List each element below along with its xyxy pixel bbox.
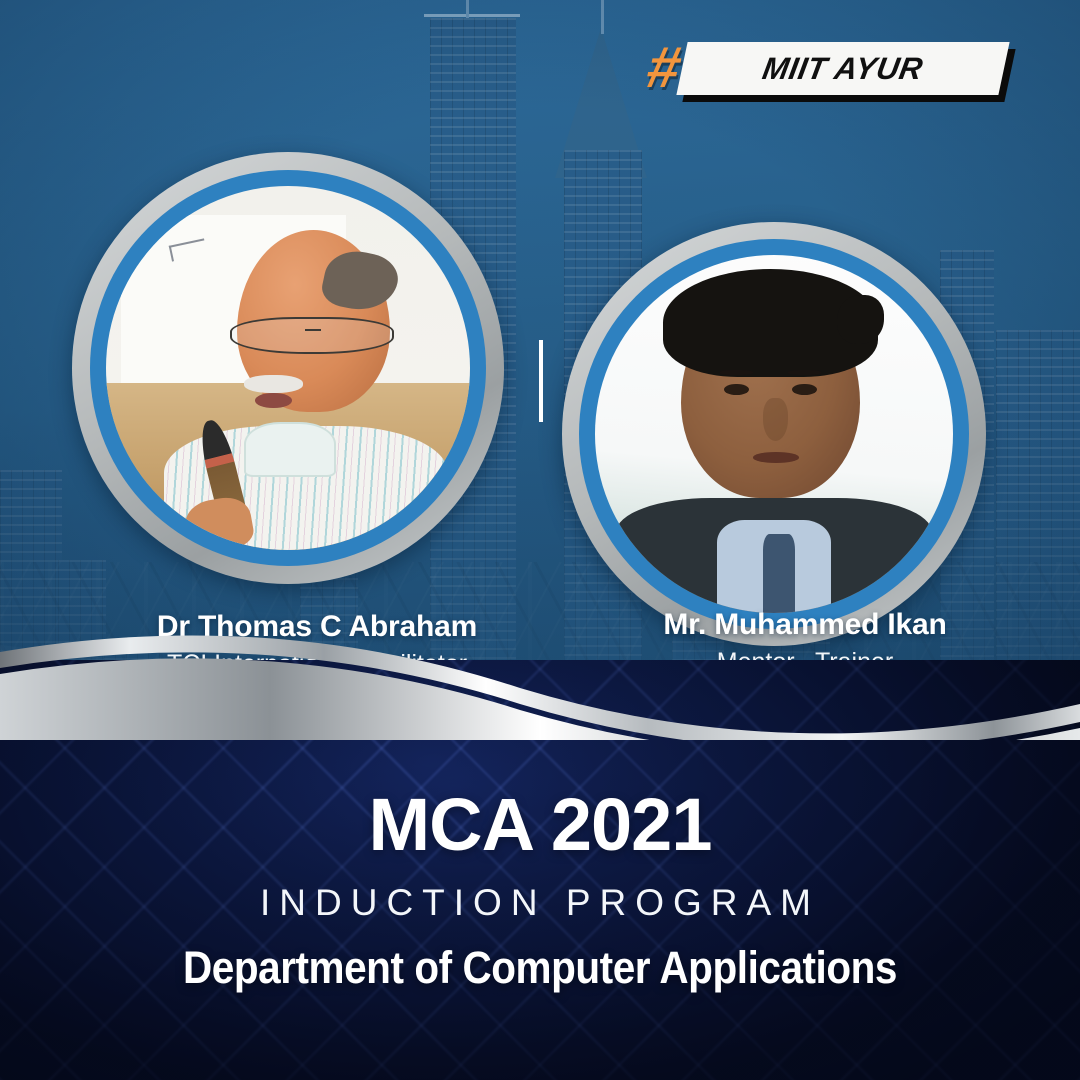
department-name: Department of Computer Applications	[54, 945, 1026, 990]
speaker-right-hair	[663, 269, 878, 376]
speaker-right-brow-left	[720, 370, 752, 376]
speaker-right-brow-right	[788, 370, 820, 376]
event-title: MCA 2021	[0, 788, 1080, 862]
speaker-right-mouth	[753, 452, 800, 463]
badge-plate-wrapper: MIIT AYUR	[682, 42, 1004, 95]
event-title-block: MCA 2021 INDUCTION PROGRAM Department of…	[0, 788, 1080, 990]
badge-label: MIIT AYUR	[760, 50, 926, 86]
badge-plate: MIIT AYUR	[677, 42, 1010, 95]
speaker-left-mustache	[244, 375, 302, 393]
hashtag-badge[interactable]: # MIIT AYUR	[648, 38, 1004, 98]
speaker-photo-right[interactable]	[562, 222, 986, 646]
event-subtitle: INDUCTION PROGRAM	[0, 884, 1080, 921]
silver-arc-divider	[0, 600, 1080, 740]
whiteboard-scribble	[169, 238, 208, 261]
speaker-left-mouth	[255, 393, 291, 408]
photo-image-right	[595, 255, 953, 613]
speaker-left-glasses	[230, 317, 394, 354]
speaker-photo-left[interactable]	[72, 152, 504, 584]
photo-image-left	[106, 186, 470, 550]
poster-canvas: # MIIT AYUR	[0, 0, 1080, 1080]
portrait-divider-line	[539, 340, 543, 422]
speaker-left-collar	[244, 422, 335, 477]
